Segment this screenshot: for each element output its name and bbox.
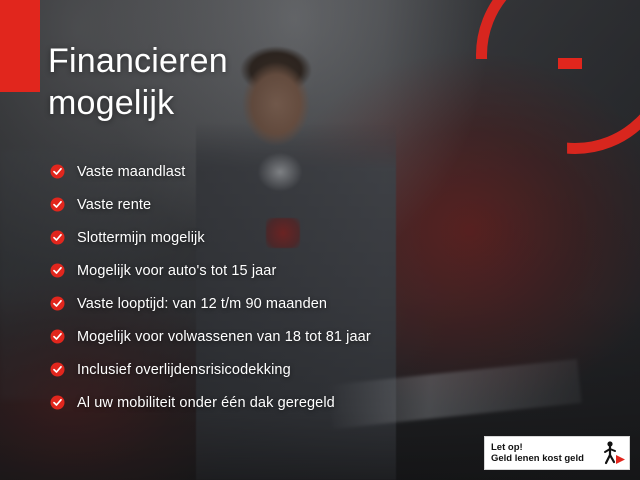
headline-line-2: mogelijk (48, 82, 228, 124)
list-item-label: Vaste looptijd: van 12 t/m 90 maanden (77, 296, 327, 312)
badge-text: Let op! Geld lenen kost geld (491, 442, 599, 464)
list-item: Vaste looptijd: van 12 t/m 90 maanden (50, 287, 520, 320)
check-circle-icon (50, 164, 65, 179)
walking-person-icon (599, 439, 625, 467)
list-item: Mogelijk voor auto's tot 15 jaar (50, 254, 520, 287)
check-circle-icon (50, 197, 65, 212)
page-title: Financieren mogelijk (48, 40, 228, 124)
badge-line-1: Let op! (491, 442, 599, 453)
check-circle-icon (50, 362, 65, 377)
list-item-label: Vaste rente (77, 197, 151, 213)
check-circle-icon (50, 230, 65, 245)
list-item-label: Slottermijn mogelijk (77, 230, 205, 246)
check-circle-icon (50, 395, 65, 410)
list-item: Al uw mobiliteit onder één dak geregeld (50, 386, 520, 419)
list-item-label: Inclusief overlijdensrisicodekking (77, 362, 291, 378)
list-item: Inclusief overlijdensrisicodekking (50, 353, 520, 386)
red-square-block (0, 0, 40, 92)
check-circle-icon (50, 263, 65, 278)
list-item-label: Mogelijk voor auto's tot 15 jaar (77, 263, 276, 279)
list-item: Mogelijk voor volwassenen van 18 tot 81 … (50, 320, 520, 353)
list-item-label: Mogelijk voor volwassenen van 18 tot 81 … (77, 329, 371, 345)
headline-line-1: Financieren (48, 40, 228, 82)
list-item-label: Al uw mobiliteit onder één dak geregeld (77, 395, 335, 411)
list-item: Slottermijn mogelijk (50, 221, 520, 254)
check-circle-icon (50, 329, 65, 344)
red-arc-notch (558, 58, 582, 69)
badge-line-2: Geld lenen kost geld (491, 453, 599, 464)
check-circle-icon (50, 296, 65, 311)
list-item-label: Vaste maandlast (77, 164, 185, 180)
list-item: Vaste maandlast (50, 155, 520, 188)
feature-list: Vaste maandlast Vaste rente Slottermijn … (50, 155, 520, 419)
status-badge: Let op! Geld lenen kost geld (484, 436, 630, 470)
banner-root: Financieren mogelijk Vaste maandlast Vas… (0, 0, 640, 480)
list-item: Vaste rente (50, 188, 520, 221)
